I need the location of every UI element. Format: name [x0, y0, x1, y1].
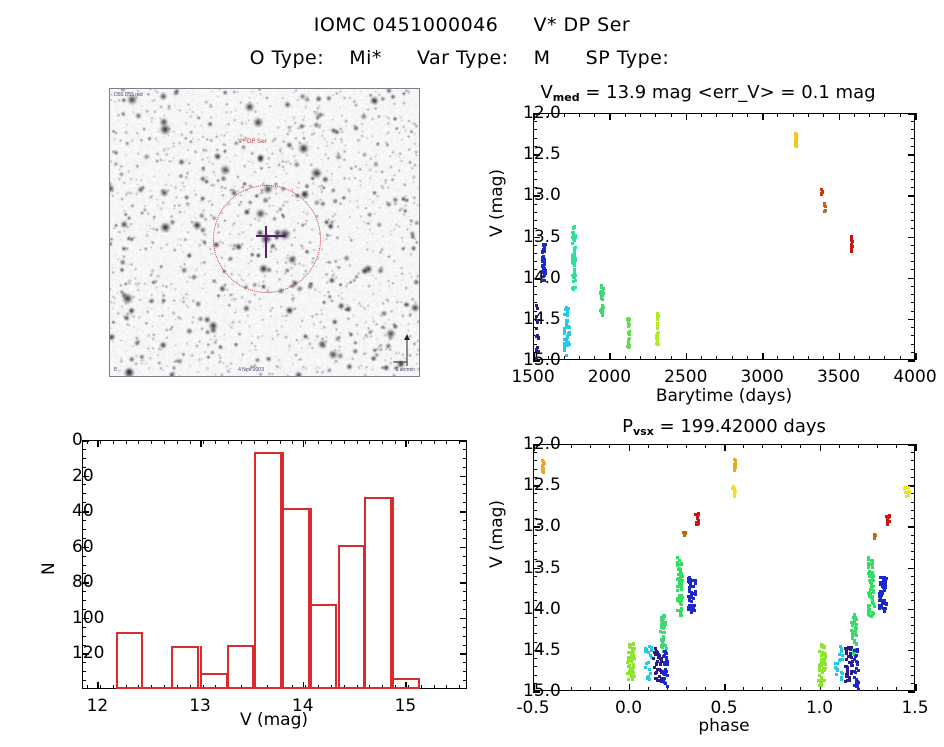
data-point [824, 663, 827, 666]
finder-chart[interactable]: V* DP Ser DSS DSS red 4 Nov 2003 1 arcmi… [109, 88, 420, 377]
data-point [682, 531, 685, 534]
y-tick-minor-right [911, 335, 915, 336]
data-point [535, 304, 538, 307]
data-point [692, 597, 695, 600]
y-tick-minor-right [911, 543, 915, 544]
y-tick-minor-right [911, 286, 915, 287]
y-tick-minor-right [463, 653, 467, 654]
y-tick-minor-right [911, 526, 915, 527]
data-point [884, 607, 887, 610]
x-tick-minor-top [331, 440, 332, 444]
y-tick-minor [533, 650, 537, 651]
y-tick-minor-right [463, 476, 467, 477]
data-point [688, 599, 691, 602]
data-point [907, 493, 910, 496]
lightcurve-axes[interactable] [533, 113, 915, 360]
histogram-bar-top [171, 646, 199, 648]
y-tick-minor-right [911, 311, 915, 312]
histogram-bar-left [392, 497, 394, 689]
data-point [693, 592, 696, 595]
compass-icon [391, 332, 413, 366]
data-point [647, 651, 650, 654]
x-tick-label: 3500 [817, 367, 860, 387]
x-tick-minor-top [716, 113, 717, 117]
x-tick-minor [896, 687, 897, 691]
x-tick-label: 0.0 [615, 698, 642, 718]
x-tick-minor [594, 356, 595, 360]
ph-title-sub: vsx [633, 425, 654, 438]
data-point [573, 226, 576, 229]
data-point [571, 242, 574, 245]
y-tick-minor [82, 680, 86, 681]
x-tick-minor-top [203, 440, 204, 444]
data-point [573, 286, 576, 289]
y-tick-minor [533, 584, 537, 585]
y-tick-minor [533, 162, 537, 163]
data-point [627, 338, 630, 341]
y-tick-minor-right [911, 302, 915, 303]
lightcurve-title: Vmed = 13.9 mag <err_V> = 0.1 mag [498, 82, 918, 104]
y-tick-minor-right [463, 538, 467, 539]
x-tick-label: 1.5 [901, 698, 928, 718]
data-point [883, 610, 886, 613]
data-point [883, 589, 886, 592]
x-tick-minor-top [743, 444, 744, 448]
data-point [853, 613, 856, 616]
data-point [870, 572, 873, 575]
y-tick-minor [533, 187, 537, 188]
x-tick-minor-top [138, 440, 139, 444]
data-point [872, 591, 875, 594]
y-tick-minor-right [463, 458, 467, 459]
y-tick-minor-right [463, 645, 467, 646]
x-tick-major-top [405, 440, 407, 447]
y-tick-minor-right [911, 344, 915, 345]
lightcurve-xlabel: Barytime (days) [656, 386, 792, 406]
data-point [563, 332, 566, 335]
data-point [568, 326, 571, 329]
x-tick-minor-top [839, 113, 840, 117]
y-tick-minor-right [463, 565, 467, 566]
x-tick-minor [590, 687, 591, 691]
data-point [795, 142, 798, 145]
x-tick-minor-top [655, 113, 656, 117]
y-tick-minor [82, 565, 86, 566]
data-point [536, 307, 539, 310]
y-tick-minor-right [463, 484, 467, 485]
data-point [855, 660, 858, 663]
x-tick-minor-top [884, 113, 885, 117]
x-tick-minor-top [579, 113, 580, 117]
x-tick-minor-top [686, 113, 687, 117]
data-point [573, 270, 576, 273]
x-tick-minor-top [762, 444, 763, 448]
data-point [880, 606, 883, 609]
data-point [867, 613, 870, 616]
y-tick-minor [82, 476, 86, 477]
y-tick-minor-right [463, 573, 467, 574]
y-tick-minor-right [911, 485, 915, 486]
x-tick-minor-top [705, 444, 706, 448]
x-tick-minor-top [564, 113, 565, 117]
y-tick-minor [82, 636, 86, 637]
y-tick-major [82, 440, 89, 442]
data-point [535, 348, 538, 351]
data-point [851, 630, 854, 633]
data-point [794, 138, 797, 141]
data-point [879, 590, 882, 593]
x-tick-minor-top [640, 113, 641, 117]
aperture-circle [213, 185, 321, 293]
y-tick-minor [533, 576, 537, 577]
x-tick-minor-top [357, 440, 358, 444]
x-tick-minor-top [609, 113, 610, 117]
x-tick-major-top [915, 444, 917, 451]
y-tick-minor [533, 245, 537, 246]
y-tick-minor [533, 617, 537, 618]
y-tick-minor [82, 502, 86, 503]
data-point [841, 654, 844, 657]
y-tick-minor-right [463, 618, 467, 619]
var-type-label: Var Type: [417, 47, 509, 69]
data-point [679, 569, 682, 572]
y-tick-minor [533, 460, 537, 461]
data-point [823, 653, 826, 656]
data-point [542, 264, 545, 267]
x-tick-minor [724, 687, 725, 691]
y-tick-major-right [908, 444, 915, 446]
data-point [693, 604, 696, 607]
x-tick-minor-top [151, 440, 152, 444]
y-tick-minor [533, 493, 537, 494]
lc-title-prefix: V [540, 82, 552, 103]
data-point [627, 332, 630, 335]
histogram-bar-left [282, 452, 284, 689]
iomc-id: IOMC 0451000046 [314, 14, 499, 36]
y-tick-minor-right [911, 477, 915, 478]
y-tick-minor-right [463, 671, 467, 672]
y-tick-minor [82, 662, 86, 663]
data-point [844, 680, 847, 683]
y-tick-minor [82, 582, 86, 583]
y-tick-minor [533, 171, 537, 172]
x-tick-major-top [303, 440, 305, 447]
data-point [818, 674, 821, 677]
data-point [679, 601, 682, 604]
data-point [688, 581, 691, 584]
x-tick-minor-top [900, 113, 901, 117]
data-point [662, 639, 665, 642]
data-point [856, 648, 859, 651]
finder-date-label: 4 Nov 2003 [238, 367, 264, 373]
data-point [881, 599, 884, 602]
data-point [653, 666, 656, 669]
y-tick-minor-right [911, 220, 915, 221]
data-point [566, 336, 569, 339]
y-tick-minor [82, 458, 86, 459]
data-point [646, 676, 649, 679]
x-tick-major-top [97, 440, 99, 447]
y-tick-minor-right [911, 675, 915, 676]
y-tick-minor-right [911, 600, 915, 601]
x-tick-major [915, 684, 917, 691]
y-tick-minor [533, 592, 537, 593]
y-tick-major-right [908, 360, 915, 362]
y-tick-minor [82, 493, 86, 494]
x-tick-minor [808, 356, 809, 360]
x-tick-minor-top [113, 440, 114, 444]
y-tick-minor [533, 485, 537, 486]
data-point [662, 672, 665, 675]
target-crosshair-v [265, 226, 267, 258]
o-type-label: O Type: [250, 47, 325, 69]
data-point [630, 655, 633, 658]
data-point [542, 243, 545, 246]
data-point [678, 609, 681, 612]
y-tick-minor [533, 658, 537, 659]
y-tick-minor [533, 154, 537, 155]
y-tick-minor-right [911, 171, 915, 172]
data-point [574, 246, 577, 249]
x-tick-minor-top [305, 440, 306, 444]
y-tick-minor [82, 449, 86, 450]
data-point [823, 204, 826, 207]
x-tick-minor-top [408, 440, 409, 444]
x-tick-major-top [200, 440, 202, 447]
data-point [565, 324, 568, 327]
data-point [733, 469, 736, 472]
x-tick-minor-top [839, 444, 840, 448]
x-tick-minor-top [254, 440, 255, 444]
y-tick-minor [82, 645, 86, 646]
y-tick-minor-right [911, 237, 915, 238]
x-tick-minor-top [701, 113, 702, 117]
x-tick-minor-top [896, 444, 897, 448]
data-point [676, 589, 679, 592]
x-tick-label: 12 [87, 696, 109, 716]
x-tick-minor-top [648, 444, 649, 448]
y-tick-minor [533, 286, 537, 287]
x-tick-label: 1500 [511, 367, 554, 387]
data-point [541, 260, 544, 263]
y-tick-minor-right [911, 658, 915, 659]
y-tick-minor-right [911, 187, 915, 188]
data-point [656, 312, 659, 315]
data-point [733, 464, 736, 467]
data-point [676, 564, 679, 567]
y-tick-minor-right [463, 520, 467, 521]
x-tick-minor [705, 687, 706, 691]
data-point [687, 577, 690, 580]
data-point [884, 583, 887, 586]
data-point [834, 662, 837, 665]
data-point [854, 627, 857, 630]
y-tick-minor [533, 228, 537, 229]
y-tick-minor-right [911, 551, 915, 552]
y-tick-minor-right [911, 502, 915, 503]
finder-east-label: E [114, 367, 117, 373]
y-tick-minor-right [911, 269, 915, 270]
data-point [847, 655, 850, 658]
x-tick-minor-top [732, 113, 733, 117]
x-tick-minor-top [877, 444, 878, 448]
x-tick-minor-top [590, 444, 591, 448]
data-point [572, 237, 575, 240]
data-point [648, 645, 651, 648]
y-tick-minor-right [911, 535, 915, 536]
histogram-bar-top [310, 604, 338, 606]
x-tick-minor [884, 356, 885, 360]
sp-type-label: SP Type: [586, 47, 670, 69]
x-tick-minor [820, 687, 821, 691]
y-tick-minor-right [911, 154, 915, 155]
target-crosshair-h [256, 235, 286, 237]
y-tick-minor-right [463, 449, 467, 450]
x-tick-minor-top [594, 113, 595, 117]
data-point [854, 671, 857, 674]
y-tick-major-right [908, 691, 915, 693]
data-point [543, 267, 546, 270]
x-tick-minor-top [100, 440, 101, 444]
x-tick-minor [640, 356, 641, 360]
data-point [872, 612, 875, 615]
data-point [656, 334, 659, 337]
y-tick-minor-right [911, 633, 915, 634]
data-point [655, 671, 658, 674]
y-tick-minor-right [463, 627, 467, 628]
y-tick-minor [533, 195, 537, 196]
data-point [903, 487, 906, 490]
data-point [573, 254, 576, 257]
histogram-baseline [116, 687, 420, 689]
data-point [566, 344, 569, 347]
x-tick-minor [793, 356, 794, 360]
y-tick-minor-right [911, 683, 915, 684]
y-tick-minor [82, 627, 86, 628]
histogram-axes[interactable] [82, 440, 467, 689]
y-tick-minor-right [463, 493, 467, 494]
x-tick-minor-top [800, 444, 801, 448]
x-tick-minor-top [747, 113, 748, 117]
data-point [648, 668, 651, 671]
data-point [572, 231, 575, 234]
data-point [679, 584, 682, 587]
data-point [662, 643, 665, 646]
x-tick-minor [648, 687, 649, 691]
x-tick-major [915, 353, 917, 360]
x-tick-label: 1.0 [806, 698, 833, 718]
x-tick-minor [87, 685, 88, 689]
histogram-bar-top [282, 508, 310, 510]
x-tick-minor [421, 685, 422, 689]
y-tick-minor-right [911, 642, 915, 643]
x-tick-minor [839, 687, 840, 691]
data-point [838, 659, 841, 662]
data-point [656, 340, 659, 343]
y-tick-minor-right [911, 319, 915, 320]
x-tick-minor-top [793, 113, 794, 117]
data-point [573, 252, 576, 255]
y-tick-minor-right [911, 510, 915, 511]
y-tick-minor [533, 551, 537, 552]
data-point [571, 261, 574, 264]
data-point [870, 563, 873, 566]
data-point [657, 653, 660, 656]
data-point [601, 298, 604, 301]
y-tick-minor-right [911, 253, 915, 254]
y-tick-minor-right [463, 636, 467, 637]
y-tick-minor-right [463, 529, 467, 530]
y-tick-minor [533, 269, 537, 270]
x-tick-minor-top [762, 113, 763, 117]
data-point [794, 134, 797, 137]
y-tick-minor [533, 510, 537, 511]
data-point [679, 595, 682, 598]
lc-title-rest: = 13.9 mag <err_V> = 0.1 mag [585, 82, 875, 103]
y-tick-major-right [460, 440, 467, 442]
data-point [821, 671, 824, 674]
x-tick-minor [732, 356, 733, 360]
data-point [849, 648, 852, 651]
data-point [536, 321, 539, 324]
y-tick-minor [533, 559, 537, 560]
y-tick-minor [533, 278, 537, 279]
x-tick-major-top [915, 113, 917, 120]
data-point [867, 572, 870, 575]
histogram-bar-right [197, 646, 199, 689]
y-tick-minor [82, 484, 86, 485]
data-point [663, 663, 666, 666]
x-tick-minor-top [280, 440, 281, 444]
data-point [566, 314, 569, 317]
data-point [851, 637, 854, 640]
data-point [657, 343, 660, 346]
histogram-bar-top [227, 645, 255, 647]
data-point [535, 357, 538, 360]
data-point [563, 327, 566, 330]
x-tick-minor-top [625, 113, 626, 117]
y-tick-minor [82, 556, 86, 557]
data-point [631, 649, 634, 652]
x-tick-minor-top [215, 440, 216, 444]
x-tick-label: 0.5 [710, 698, 737, 718]
page-title: IOMC 0451000046 V* DP Ser [0, 14, 944, 36]
data-point [823, 657, 826, 660]
y-tick-minor-right [911, 146, 915, 147]
data-point [873, 536, 876, 539]
y-tick-minor-right [911, 460, 915, 461]
data-point [821, 644, 824, 647]
histogram-bar-top [116, 632, 144, 634]
data-point [733, 493, 736, 496]
data-point [845, 658, 848, 661]
x-tick-minor [762, 356, 763, 360]
data-point [535, 327, 538, 330]
x-tick-minor-top [808, 113, 809, 117]
star-name: V* DP Ser [534, 14, 631, 36]
x-tick-minor-top [267, 440, 268, 444]
x-tick-minor-top [164, 440, 165, 444]
histogram-bar-top [364, 497, 392, 499]
x-tick-minor [747, 356, 748, 360]
y-tick-minor-right [463, 582, 467, 583]
data-point [628, 643, 631, 646]
y-tick-minor [533, 477, 537, 478]
data-point [565, 354, 568, 357]
data-point [662, 614, 665, 617]
y-tick-minor [82, 573, 86, 574]
data-point [600, 311, 603, 314]
